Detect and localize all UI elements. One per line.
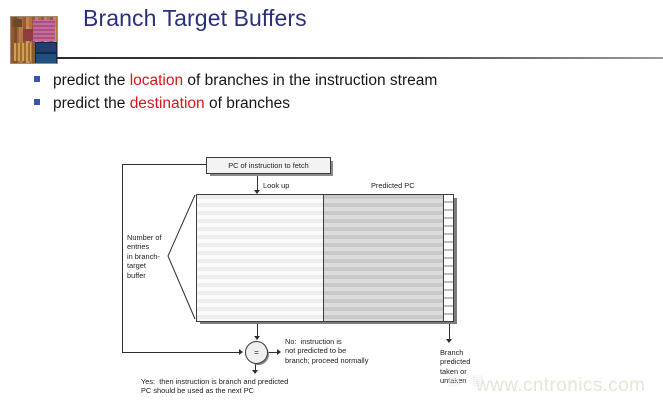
feedback-line-top (122, 164, 206, 165)
slide-canvas: Branch Target Buffers predict the locati… (0, 0, 663, 400)
feedback-arrowhead-icon (239, 349, 243, 355)
branch-target-buffer-diagram: PC of instruction to fetch Look up Predi… (0, 0, 663, 400)
lookup-label: Look up (263, 181, 289, 190)
btb-column-tag (197, 195, 323, 321)
comparator-yes-arrowhead-icon (252, 370, 258, 374)
site-watermark: www.cntronics.com (476, 375, 645, 397)
feedback-line-bottom (122, 352, 240, 353)
no-branch-note: No: instruction is not predicted to be b… (285, 337, 368, 365)
btb-column-prediction-bits (443, 195, 454, 321)
comparator-input-arrowhead-icon (254, 336, 260, 340)
entries-label: Number of entries in branch- target buff… (127, 233, 162, 280)
comparator-node: = (245, 341, 268, 364)
btb-column-predicted-pc (323, 195, 443, 321)
pc-of-instruction-box: PC of instruction to fetch (206, 157, 331, 174)
yes-branch-note: Yes: then instruction is branch and pred… (141, 377, 288, 396)
entries-brace-icon (166, 194, 196, 320)
predicted-pc-label: Predicted PC (371, 181, 415, 190)
btb-table (196, 194, 454, 322)
branch-prediction-arrowhead-icon (446, 339, 452, 343)
feedback-line-left (122, 164, 123, 352)
comparator-no-arrowhead-icon (277, 349, 281, 355)
